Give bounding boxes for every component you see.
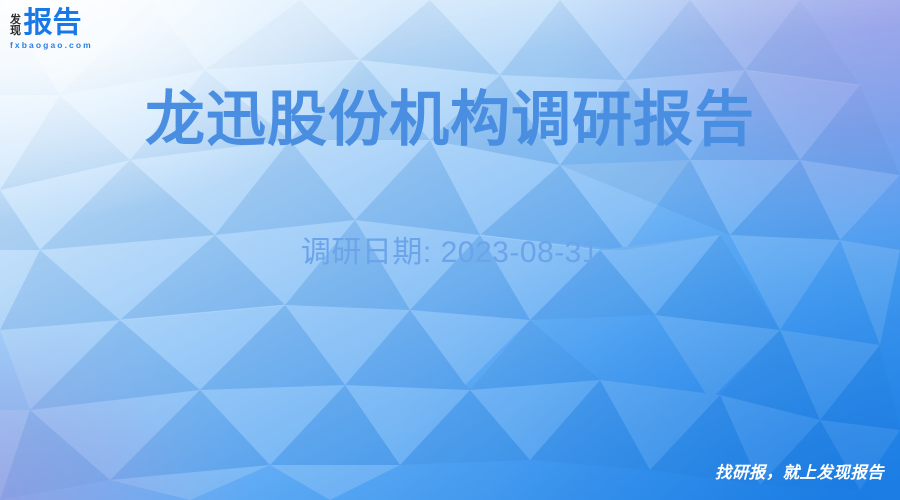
survey-date-subtitle: 调研日期: 2023-08-31 [0, 233, 900, 273]
report-cover-slide: 发 现 报告 fxbaogao.com 龙迅股份机构调研报告 调研日期: 202… [0, 0, 900, 500]
page-title: 龙迅股份机构调研报告 [0, 84, 900, 156]
footer-slogan: 找研报，就上发现报告 [715, 463, 884, 483]
brand-logo-mark: 发 现 [10, 7, 21, 38]
brand-logo-row: 发 现 报告 [10, 8, 170, 38]
brand-logo-wordmark: 报告 [24, 9, 82, 38]
brand-logo-url: fxbaogao.com [10, 40, 170, 50]
brand-logo[interactable]: 发 现 报告 fxbaogao.com [10, 8, 170, 56]
brand-logo-mark-bottom: 现 [10, 26, 21, 37]
